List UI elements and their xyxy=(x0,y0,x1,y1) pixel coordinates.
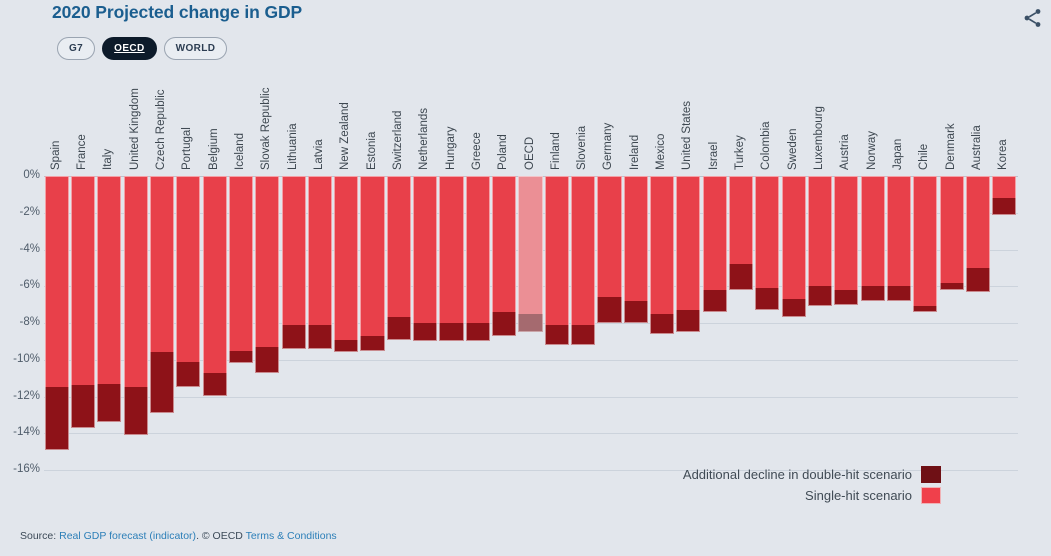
category-label: Mexico xyxy=(655,134,667,170)
bar-segment-single-hit[interactable] xyxy=(176,176,200,362)
bar-segment-double-hit[interactable] xyxy=(150,352,174,413)
bar-segment-double-hit[interactable] xyxy=(71,385,95,427)
bar-segment-single-hit[interactable] xyxy=(255,176,279,347)
bar-segment-double-hit[interactable] xyxy=(913,306,937,312)
legend-item[interactable]: Additional decline in double-hit scenari… xyxy=(683,465,941,483)
bar-segment-single-hit[interactable] xyxy=(834,176,858,290)
category-label: Germany xyxy=(602,123,614,170)
category-label: Netherlands xyxy=(418,108,430,170)
bar-austria[interactable] xyxy=(834,176,858,470)
bar-mexico[interactable] xyxy=(650,176,674,470)
bar-segment-single-hit[interactable] xyxy=(360,176,384,336)
bar-slovenia[interactable] xyxy=(571,176,595,470)
bar-germany[interactable] xyxy=(597,176,621,470)
category-label: Austria xyxy=(839,134,851,170)
category-label: Slovak Republic xyxy=(260,88,272,170)
bar-segment-double-hit[interactable] xyxy=(334,340,358,353)
bar-segment-double-hit[interactable] xyxy=(650,314,674,334)
bar-segment-double-hit[interactable] xyxy=(887,286,911,301)
category-label: Japan xyxy=(892,139,904,170)
source-middle: . © OECD xyxy=(196,530,246,542)
bar-segment-double-hit[interactable] xyxy=(782,299,806,317)
bar-czech-republic[interactable] xyxy=(150,176,174,470)
bar-segment-double-hit[interactable] xyxy=(492,312,516,336)
bar-segment-single-hit[interactable] xyxy=(861,176,885,286)
category-label: Spain xyxy=(50,141,62,170)
bar-korea[interactable] xyxy=(992,176,1016,470)
category-label: Israel xyxy=(708,142,720,170)
y-axis-tick-label: -2% xyxy=(0,206,40,218)
category-label: Denmark xyxy=(945,123,957,170)
bar-ireland[interactable] xyxy=(624,176,648,470)
bar-segment-double-hit[interactable] xyxy=(755,288,779,310)
category-label: Czech Republic xyxy=(155,89,167,170)
bar-turkey[interactable] xyxy=(729,176,753,470)
category-label: Sweden xyxy=(787,128,799,170)
bar-segment-single-hit[interactable] xyxy=(913,176,937,306)
bar-segment-single-hit[interactable] xyxy=(703,176,727,290)
bar-segment-single-hit[interactable] xyxy=(387,176,411,317)
bar-segment-single-hit[interactable] xyxy=(282,176,306,325)
bar-segment-double-hit[interactable] xyxy=(597,297,621,323)
bar-switzerland[interactable] xyxy=(387,176,411,470)
bar-segment-single-hit[interactable] xyxy=(308,176,332,325)
bar-segment-single-hit[interactable] xyxy=(782,176,806,299)
bar-hungary[interactable] xyxy=(439,176,463,470)
category-label: Hungary xyxy=(445,127,457,170)
bar-segment-double-hit[interactable] xyxy=(940,283,964,290)
plot-area: 0%-2%-4%-6%-8%-10%-12%-14%-16% xyxy=(44,176,1018,470)
bar-netherlands[interactable] xyxy=(413,176,437,470)
bar-norway[interactable] xyxy=(861,176,885,470)
bar-segment-single-hit[interactable] xyxy=(45,176,69,387)
y-axis-tick-label: -8% xyxy=(0,316,40,328)
category-label: Switzerland xyxy=(392,111,404,170)
bar-segment-single-hit[interactable] xyxy=(413,176,437,323)
bar-segment-double-hit[interactable] xyxy=(413,323,437,341)
bar-segment-single-hit[interactable] xyxy=(808,176,832,286)
category-label: United States xyxy=(681,101,693,170)
chart-widget: 2020 Projected change in GDP G7OECDWORLD… xyxy=(0,0,1051,556)
bar-japan[interactable] xyxy=(887,176,911,470)
bar-segment-double-hit[interactable] xyxy=(360,336,384,351)
y-axis-tick-label: -4% xyxy=(0,243,40,255)
bar-segment-single-hit[interactable] xyxy=(229,176,253,351)
bar-segment-double-hit[interactable] xyxy=(255,347,279,373)
bar-segment-double-hit[interactable] xyxy=(387,317,411,339)
category-label: Portugal xyxy=(181,127,193,170)
bar-greece[interactable] xyxy=(466,176,490,470)
bar-segment-single-hit[interactable] xyxy=(755,176,779,288)
category-label: Finland xyxy=(550,132,562,170)
category-label: Slovenia xyxy=(576,126,588,170)
bar-segment-double-hit[interactable] xyxy=(176,362,200,388)
y-axis-tick-label: -14% xyxy=(0,426,40,438)
bar-segment-single-hit[interactable] xyxy=(597,176,621,297)
category-label: Poland xyxy=(497,134,509,170)
bar-segment-double-hit[interactable] xyxy=(124,387,148,435)
y-axis-tick-label: -12% xyxy=(0,390,40,402)
bar-colombia[interactable] xyxy=(755,176,779,470)
category-label: France xyxy=(76,134,88,170)
source-link-indicator[interactable]: Real GDP forecast (indicator) xyxy=(59,530,196,542)
bar-latvia[interactable] xyxy=(308,176,332,470)
bar-oecd[interactable] xyxy=(518,176,542,470)
bar-segment-double-hit[interactable] xyxy=(203,373,227,397)
bar-segment-double-hit[interactable] xyxy=(439,323,463,341)
bar-luxembourg[interactable] xyxy=(808,176,832,470)
bar-poland[interactable] xyxy=(492,176,516,470)
y-axis-tick-label: -16% xyxy=(0,463,40,475)
bar-italy[interactable] xyxy=(97,176,121,470)
bar-segment-double-hit[interactable] xyxy=(45,387,69,449)
bar-segment-single-hit[interactable] xyxy=(545,176,569,325)
bar-segment-single-hit[interactable] xyxy=(650,176,674,314)
bar-iceland[interactable] xyxy=(229,176,253,470)
y-axis-tick-label: -10% xyxy=(0,353,40,365)
bar-segment-single-hit[interactable] xyxy=(571,176,595,325)
category-label: Lithuania xyxy=(287,123,299,170)
bar-segment-double-hit[interactable] xyxy=(729,264,753,290)
bar-united-kingdom[interactable] xyxy=(124,176,148,470)
bar-segment-single-hit[interactable] xyxy=(150,176,174,352)
bar-france[interactable] xyxy=(71,176,95,470)
bar-segment-single-hit[interactable] xyxy=(124,176,148,387)
bar-sweden[interactable] xyxy=(782,176,806,470)
category-label: Australia xyxy=(971,125,983,170)
bar-segment-single-hit[interactable] xyxy=(71,176,95,385)
bar-segment-double-hit[interactable] xyxy=(518,314,542,332)
bar-segment-single-hit[interactable] xyxy=(518,176,542,314)
category-labels: SpainFranceItalyUnited KingdomCzech Repu… xyxy=(44,0,1018,176)
category-label: Italy xyxy=(102,149,114,170)
bar-segment-single-hit[interactable] xyxy=(97,176,121,384)
bar-denmark[interactable] xyxy=(940,176,964,470)
bar-estonia[interactable] xyxy=(360,176,384,470)
bar-segment-single-hit[interactable] xyxy=(466,176,490,323)
bar-israel[interactable] xyxy=(703,176,727,470)
bar-segment-double-hit[interactable] xyxy=(992,198,1016,215)
bar-segment-double-hit[interactable] xyxy=(282,325,306,349)
bar-segment-single-hit[interactable] xyxy=(334,176,358,340)
bar-lithuania[interactable] xyxy=(282,176,306,470)
bar-chile[interactable] xyxy=(913,176,937,470)
legend-item[interactable]: Single-hit scenario xyxy=(683,486,941,504)
bar-segment-double-hit[interactable] xyxy=(861,286,885,301)
bar-segment-single-hit[interactable] xyxy=(729,176,753,264)
category-label: Korea xyxy=(997,139,1009,170)
bar-segment-single-hit[interactable] xyxy=(492,176,516,312)
bar-segment-double-hit[interactable] xyxy=(834,290,858,305)
bar-segment-single-hit[interactable] xyxy=(992,176,1016,198)
bar-segment-single-hit[interactable] xyxy=(887,176,911,286)
bar-portugal[interactable] xyxy=(176,176,200,470)
source-link-terms[interactable]: Terms & Conditions xyxy=(246,530,337,542)
category-label: Greece xyxy=(471,132,483,170)
category-label: OECD xyxy=(524,137,536,170)
category-label: Ireland xyxy=(629,135,641,170)
legend-label: Additional decline in double-hit scenari… xyxy=(683,467,912,482)
category-label: Latvia xyxy=(313,139,325,170)
source-note: Source: Real GDP forecast (indicator). ©… xyxy=(20,530,337,542)
bar-new-zealand[interactable] xyxy=(334,176,358,470)
bar-segment-single-hit[interactable] xyxy=(676,176,700,310)
bar-slovak-republic[interactable] xyxy=(255,176,279,470)
chart-legend: Additional decline in double-hit scenari… xyxy=(683,465,941,507)
bar-segment-single-hit[interactable] xyxy=(203,176,227,373)
bar-finland[interactable] xyxy=(545,176,569,470)
category-label: Colombia xyxy=(760,121,772,170)
bar-segment-double-hit[interactable] xyxy=(466,323,490,341)
bar-segment-single-hit[interactable] xyxy=(624,176,648,301)
legend-swatch-single xyxy=(921,487,941,504)
bar-segment-double-hit[interactable] xyxy=(308,325,332,349)
category-label: Norway xyxy=(866,131,878,170)
bar-segment-double-hit[interactable] xyxy=(966,268,990,292)
y-axis-tick-label: 0% xyxy=(0,169,40,181)
bar-segment-double-hit[interactable] xyxy=(703,290,727,312)
bar-australia[interactable] xyxy=(966,176,990,470)
legend-swatch-double xyxy=(921,466,941,483)
category-label: Chile xyxy=(918,144,930,170)
legend-label: Single-hit scenario xyxy=(805,488,912,503)
bar-segment-double-hit[interactable] xyxy=(571,325,595,345)
bar-belgium[interactable] xyxy=(203,176,227,470)
category-label: Estonia xyxy=(366,132,378,170)
share-icon[interactable] xyxy=(1020,6,1044,30)
bar-united-states[interactable] xyxy=(676,176,700,470)
bar-segment-double-hit[interactable] xyxy=(676,310,700,332)
category-label: Luxembourg xyxy=(813,106,825,170)
bar-segment-single-hit[interactable] xyxy=(439,176,463,323)
bar-segment-double-hit[interactable] xyxy=(229,351,253,364)
bar-segment-double-hit[interactable] xyxy=(545,325,569,345)
category-label: New Zealand xyxy=(339,102,351,170)
y-axis-tick-label: -6% xyxy=(0,279,40,291)
bar-segment-single-hit[interactable] xyxy=(966,176,990,268)
category-label: United Kingdom xyxy=(129,88,141,170)
bar-segment-double-hit[interactable] xyxy=(808,286,832,306)
category-label: Turkey xyxy=(734,135,746,170)
bar-spain[interactable] xyxy=(45,176,69,470)
bar-segment-double-hit[interactable] xyxy=(97,384,121,423)
bar-segment-single-hit[interactable] xyxy=(940,176,964,283)
category-label: Iceland xyxy=(234,133,246,170)
category-label: Belgium xyxy=(208,128,220,170)
bar-segment-double-hit[interactable] xyxy=(624,301,648,323)
source-prefix: Source: xyxy=(20,530,59,542)
